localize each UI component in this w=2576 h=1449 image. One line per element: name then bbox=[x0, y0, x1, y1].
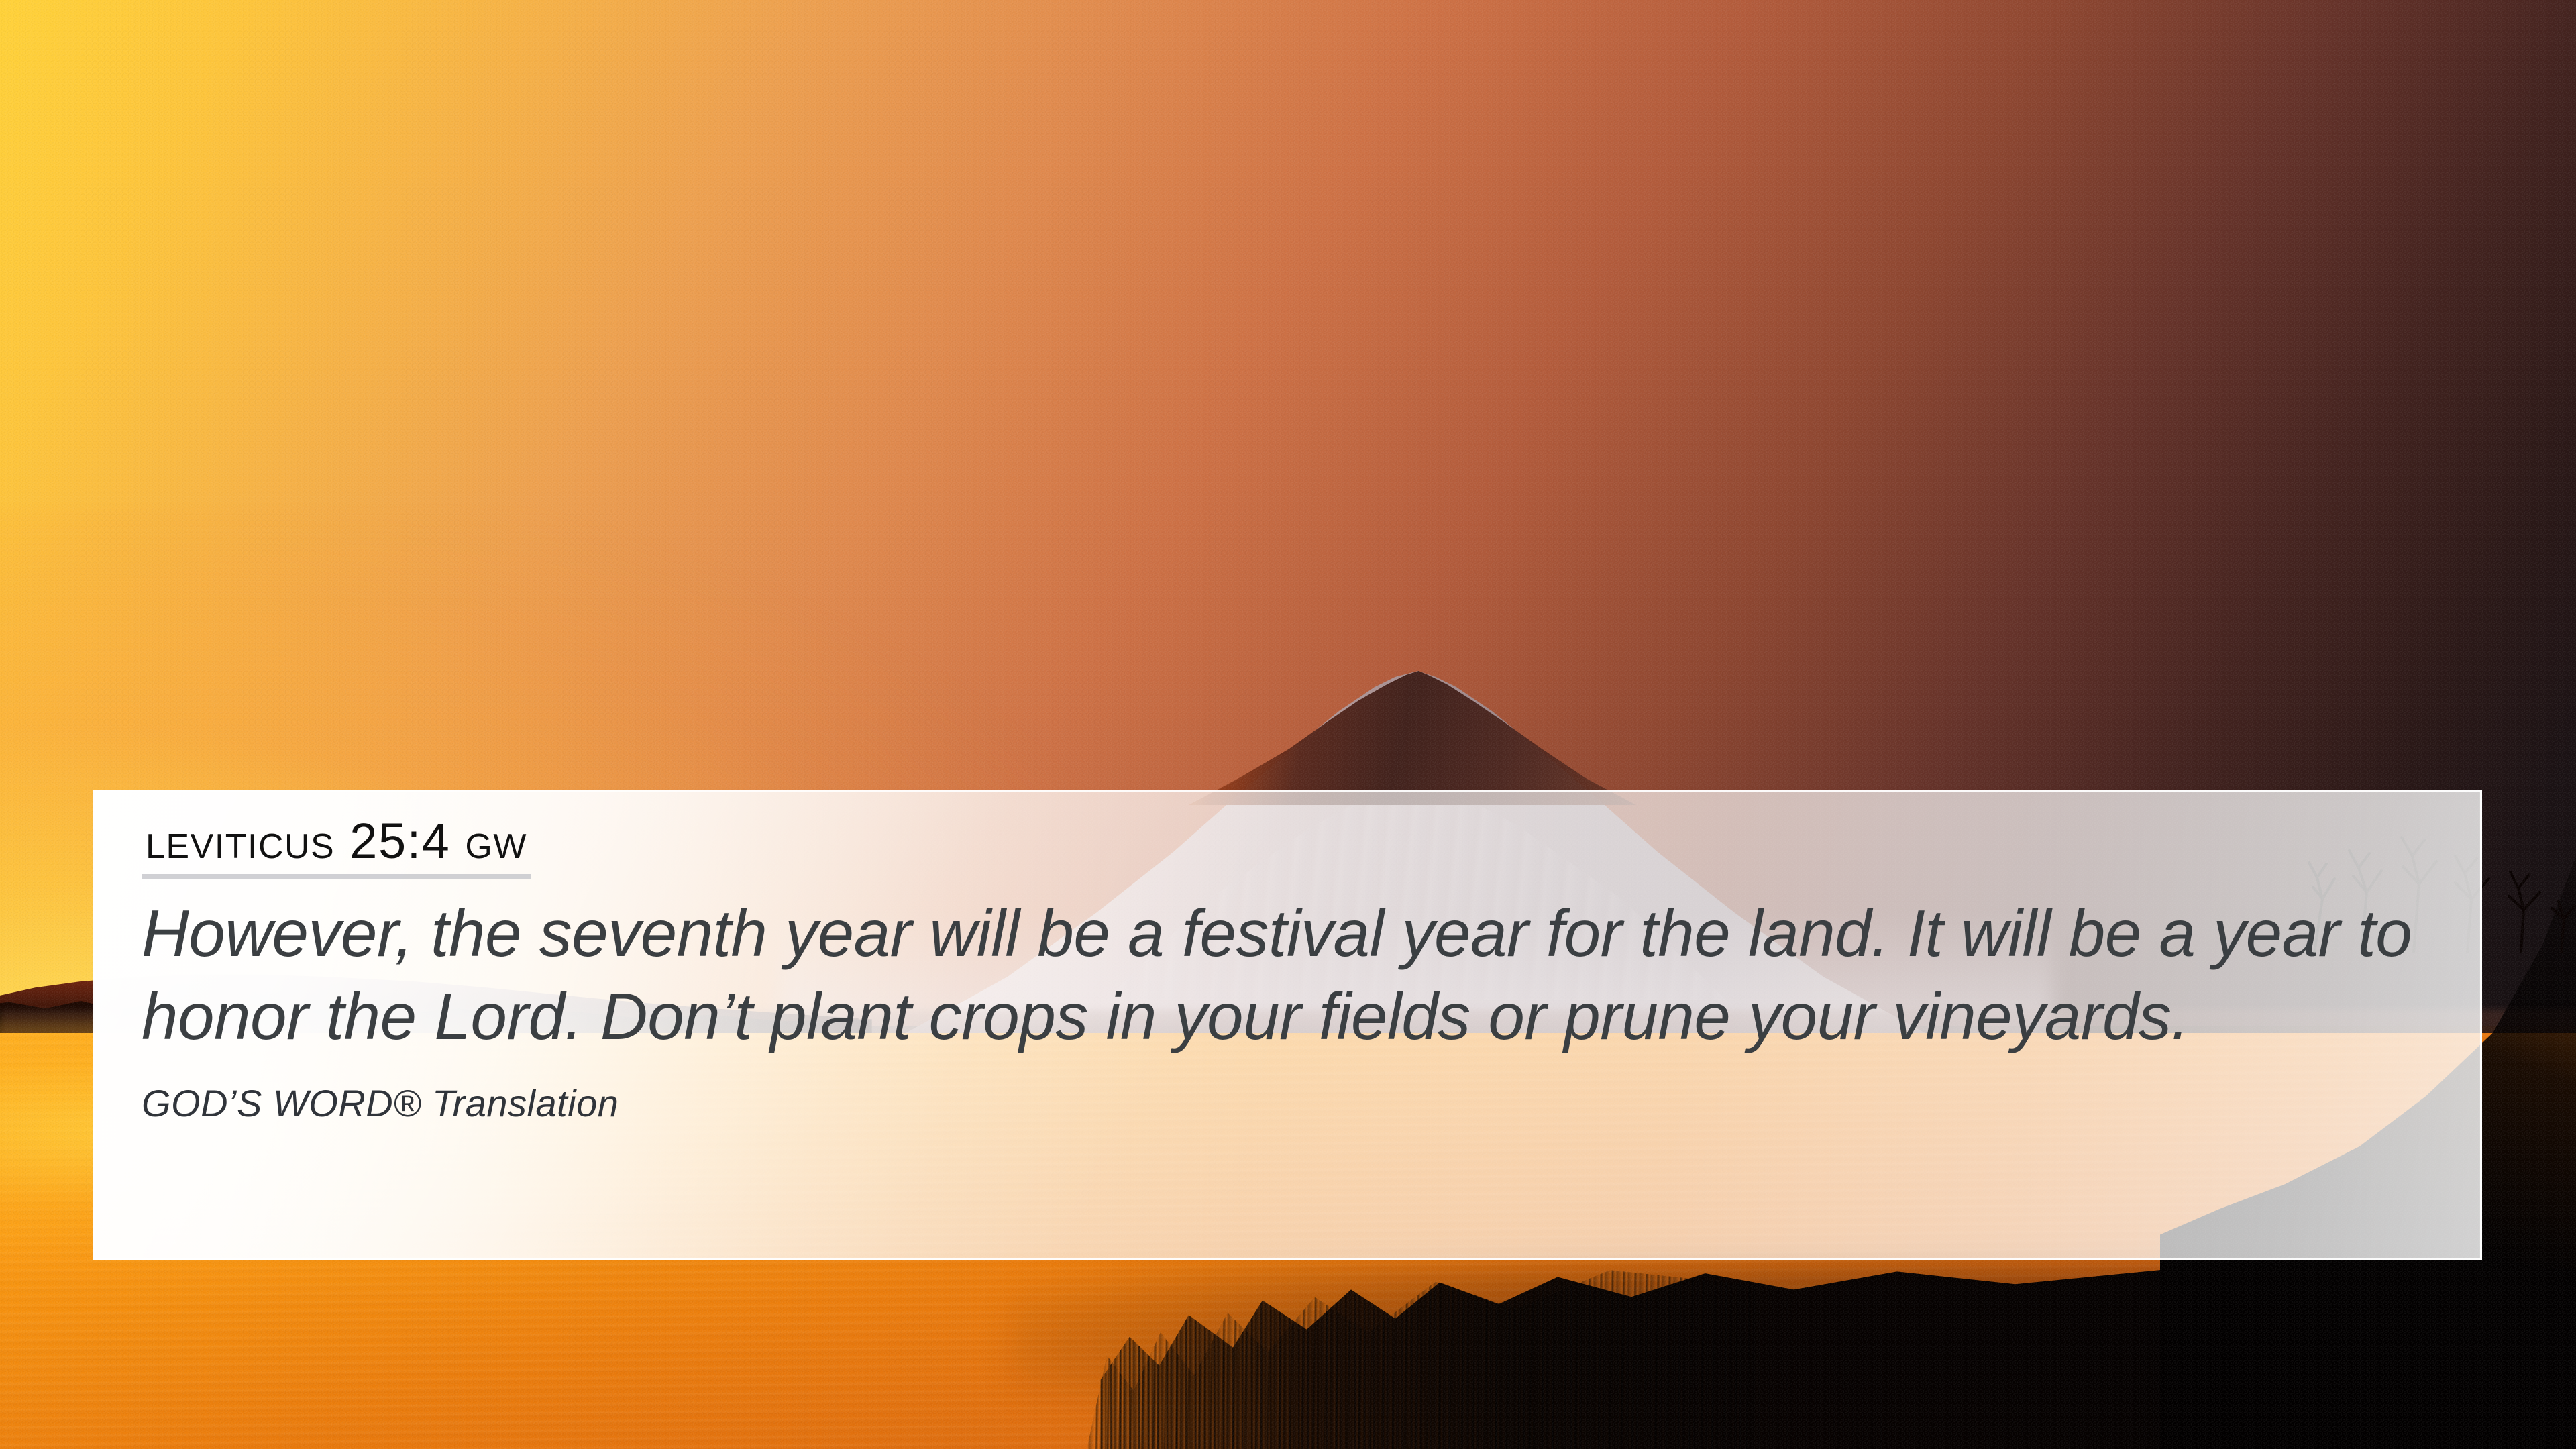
verse-image-canvas: Leviticus 25:4 GW However, the seventh y… bbox=[0, 0, 2576, 1449]
verse-reference: Leviticus 25:4 GW bbox=[142, 815, 531, 879]
verse-text: However, the seventh year will be a fest… bbox=[142, 892, 2433, 1058]
mountain-lit-summit bbox=[1100, 671, 1731, 805]
verse-attribution: GOD’S WORD® Translation bbox=[142, 1081, 2433, 1126]
verse-overlay-panel: Leviticus 25:4 GW However, the seventh y… bbox=[93, 790, 2482, 1260]
